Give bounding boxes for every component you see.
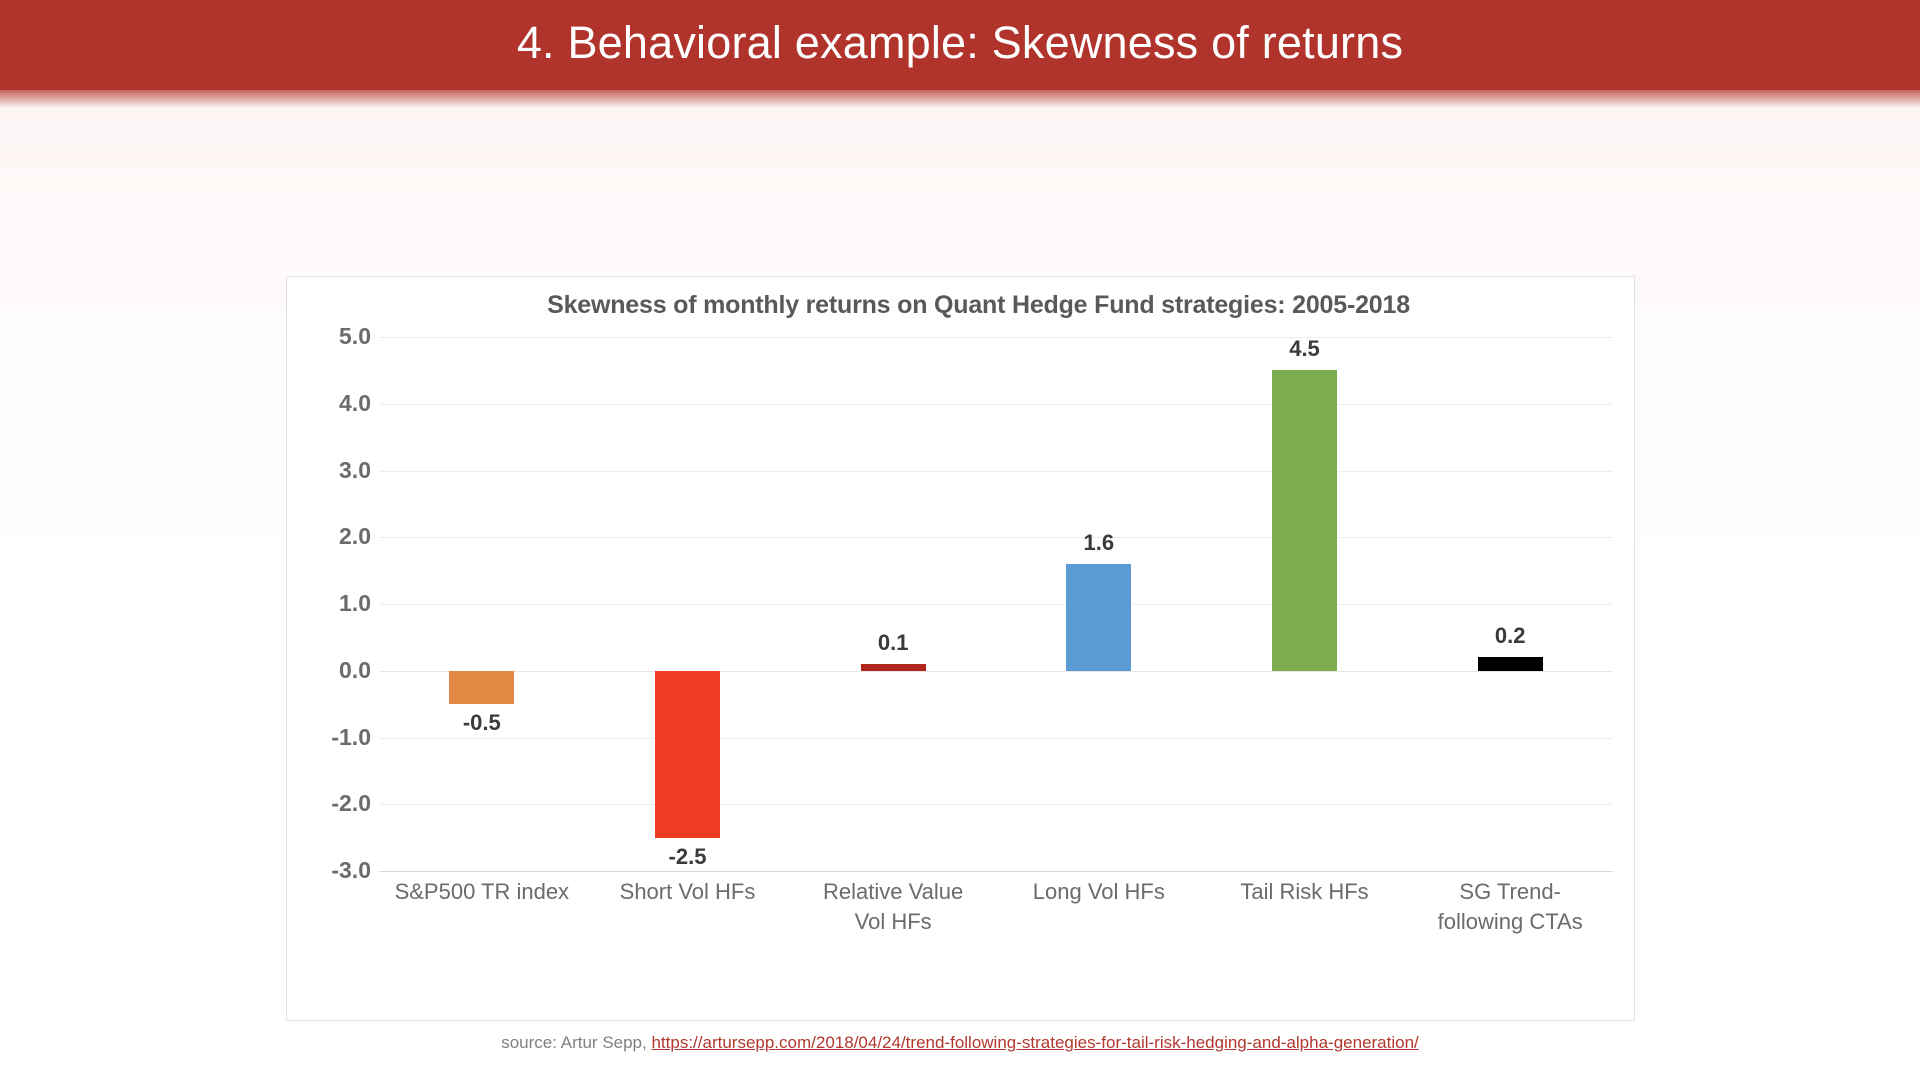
gridline xyxy=(379,604,1613,605)
y-axis-tick-label: 2.0 xyxy=(287,523,371,550)
x-axis-tick-label: SG Trend-following CTAs xyxy=(1405,877,1615,937)
bar-value-label: -0.5 xyxy=(412,710,552,736)
slide-title-banner: 4. Behavioral example: Skewness of retur… xyxy=(0,0,1920,97)
x-axis-tick-label-line: SG Trend- xyxy=(1405,877,1615,907)
source-caption: source: Artur Sepp, https://artursepp.co… xyxy=(0,1033,1920,1053)
y-axis-tick-label: -2.0 xyxy=(287,790,371,817)
gridline xyxy=(379,404,1613,405)
x-axis-tick-label: S&P500 TR index xyxy=(377,877,587,907)
x-axis-tick-label-line: Vol HFs xyxy=(788,907,998,937)
chart-title: Skewness of monthly returns on Quant Hed… xyxy=(305,291,1652,320)
bar-value-label: 1.6 xyxy=(1029,530,1169,556)
bar-value-label: 0.1 xyxy=(823,630,963,656)
x-axis-tick-label-line: Short Vol HFs xyxy=(583,877,793,907)
chart-bar[interactable] xyxy=(449,671,514,704)
gridline xyxy=(379,804,1613,805)
y-axis-tick-label: 1.0 xyxy=(287,590,371,617)
source-url-link[interactable]: https://artursepp.com/2018/04/24/trend-f… xyxy=(651,1033,1418,1052)
chart-bar[interactable] xyxy=(655,671,720,838)
gridline xyxy=(379,337,1613,338)
gridline xyxy=(379,871,1613,872)
bar-value-label: -2.5 xyxy=(618,844,758,870)
chart-container: Skewness of monthly returns on Quant Hed… xyxy=(286,276,1635,1021)
x-axis-tick-label: Short Vol HFs xyxy=(583,877,793,907)
x-axis-tick-label-line: following CTAs xyxy=(1405,907,1615,937)
x-axis-tick-label: Relative ValueVol HFs xyxy=(788,877,998,937)
gridline xyxy=(379,537,1613,538)
chart-bar[interactable] xyxy=(1478,657,1543,670)
x-axis-tick-label-line: Tail Risk HFs xyxy=(1200,877,1410,907)
gridline xyxy=(379,671,1613,672)
gridline xyxy=(379,738,1613,739)
x-axis-tick-label: Tail Risk HFs xyxy=(1200,877,1410,907)
gridline xyxy=(379,471,1613,472)
y-axis-tick-label: 0.0 xyxy=(287,657,371,684)
chart-bar[interactable] xyxy=(1272,370,1337,670)
bar-value-label: 4.5 xyxy=(1235,336,1375,362)
y-axis-tick-label: 4.0 xyxy=(287,390,371,417)
x-axis-tick-label-line: Relative Value xyxy=(788,877,998,907)
x-axis-tick-label-line: Long Vol HFs xyxy=(994,877,1204,907)
y-axis-tick-label: -3.0 xyxy=(287,857,371,884)
chart-bar[interactable] xyxy=(861,664,926,671)
bar-value-label: 0.2 xyxy=(1440,623,1580,649)
x-axis-tick-label-line: S&P500 TR index xyxy=(377,877,587,907)
y-axis-tick-label: -1.0 xyxy=(287,724,371,751)
source-prefix: source: Artur Sepp, xyxy=(501,1033,651,1052)
page-title: 4. Behavioral example: Skewness of retur… xyxy=(0,0,1920,90)
y-axis-tick-label: 5.0 xyxy=(287,323,371,350)
chart-plot-area: -0.5-2.50.11.64.50.2 xyxy=(379,337,1613,871)
y-axis-tick-label: 3.0 xyxy=(287,457,371,484)
x-axis-tick-label: Long Vol HFs xyxy=(994,877,1204,907)
chart-bar[interactable] xyxy=(1066,564,1131,671)
